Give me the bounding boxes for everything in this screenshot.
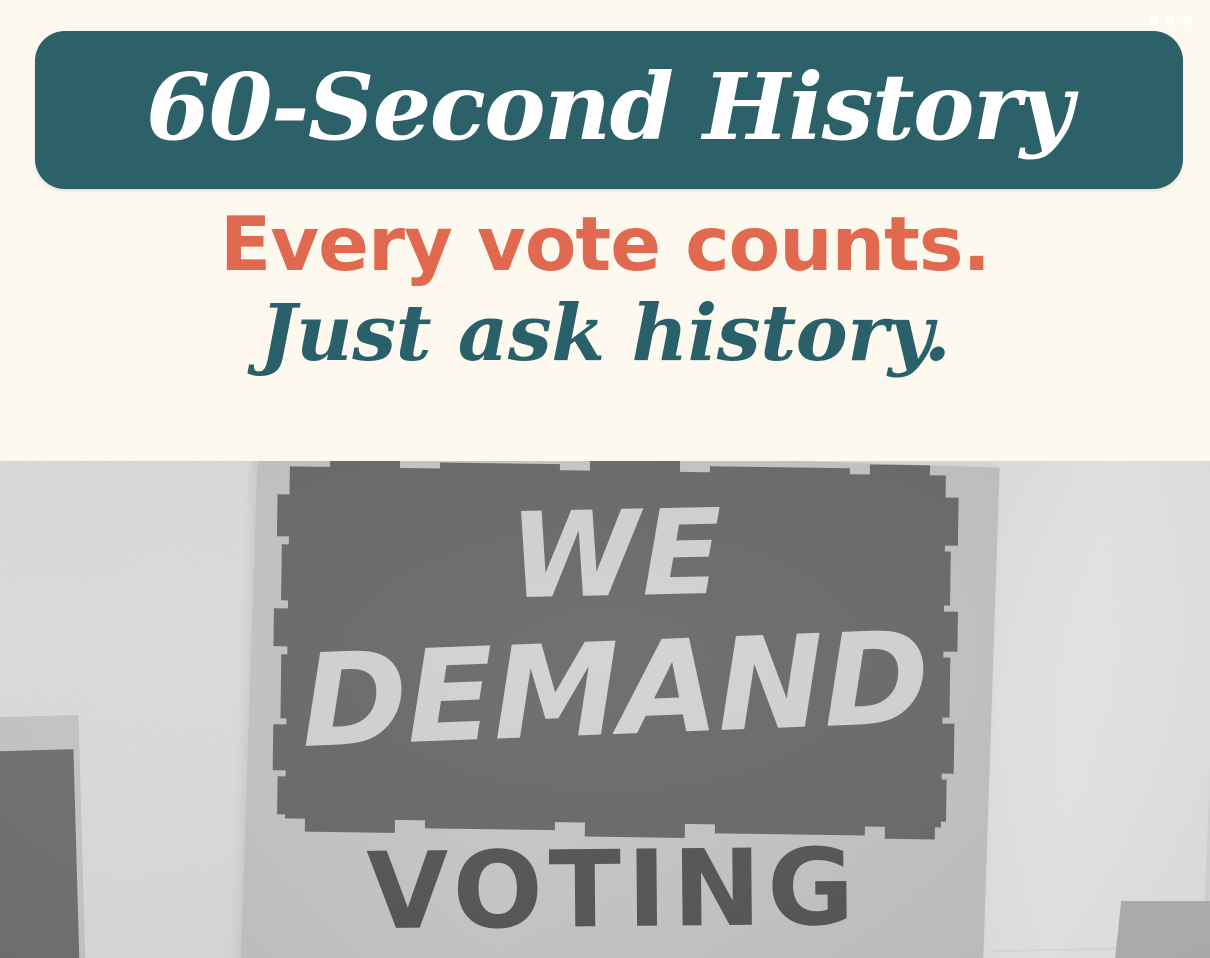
protest-photo: H [0, 461, 1210, 958]
block-edge [273, 724, 291, 770]
block-edge [281, 544, 294, 600]
block-edge [277, 494, 294, 536]
block-edge [941, 498, 959, 546]
ellipsis-dot-3 [1183, 16, 1192, 25]
block-edge [277, 776, 291, 814]
block-edge [870, 464, 930, 479]
block-edge [273, 608, 292, 646]
sign-headline-line-1: WE [288, 488, 946, 620]
sign-headline-line-2: DEMAND [285, 614, 945, 767]
block-edge [937, 657, 950, 717]
subtitle-block: Every vote counts. Just ask history. [0, 205, 1210, 376]
secondary-sign-left: H [0, 715, 85, 958]
post-canvas: 60-Second History Every vote counts. Jus… [0, 0, 1210, 958]
block-edge [936, 779, 947, 821]
block-edge [710, 466, 850, 478]
background-slab-bottom-right [1115, 901, 1210, 958]
subtitle-line-1: Every vote counts. [0, 205, 1210, 283]
header-section: 60-Second History Every vote counts. Jus… [0, 0, 1210, 461]
block-edge [939, 611, 958, 651]
demand-text-group: WE DEMAND [285, 466, 946, 827]
sign-body-text-group: VOTING RIGHTS [277, 826, 944, 958]
block-edge [938, 723, 955, 773]
block-edge [590, 461, 680, 476]
ellipsis-dot-1 [1149, 16, 1158, 25]
ellipsis-dot-2 [1166, 16, 1175, 25]
block-edge [440, 462, 560, 474]
page-title: 60-Second History [35, 31, 1183, 189]
main-protest-sign: WE DEMAND VOTING RIGHTS [240, 461, 999, 958]
title-badge: 60-Second History [35, 31, 1183, 189]
block-edge [939, 551, 951, 605]
block-edge [330, 461, 400, 472]
secondary-sign-letter: H [0, 823, 84, 913]
sign-body-line-1: VOTING [283, 834, 944, 946]
blank-placard-right [964, 461, 1210, 958]
block-edge [280, 654, 292, 718]
ellipsis-icon[interactable] [1145, 12, 1196, 29]
demand-headline-block: WE DEMAND [285, 466, 946, 827]
subtitle-line-2: Just ask history. [0, 293, 1210, 376]
